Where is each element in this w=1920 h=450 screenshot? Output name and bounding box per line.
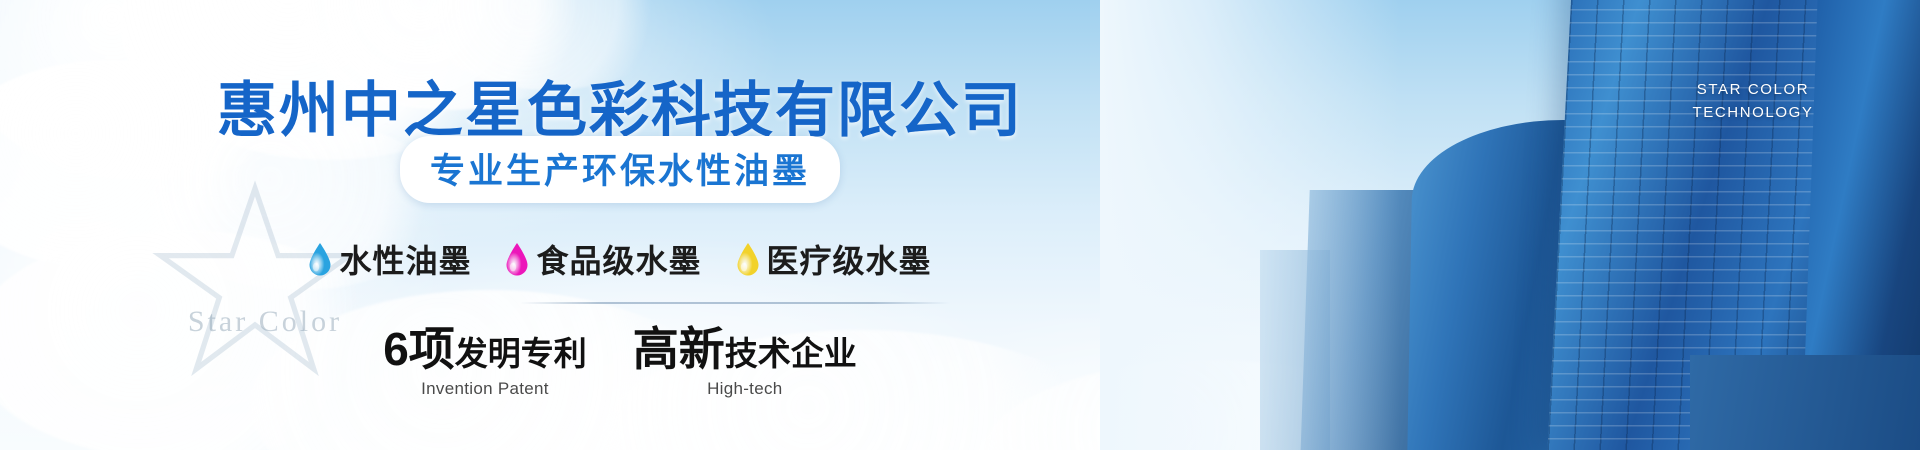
star-color-line-1: STAR COLOR	[1678, 78, 1828, 101]
subtitle-container: 专业生产环保水性油墨	[0, 136, 1240, 203]
credential-english-label: Invention Patent	[383, 379, 587, 399]
credential-rest: 技术企业	[725, 335, 857, 372]
feature-item: 医疗级水墨	[736, 236, 932, 282]
section-divider	[520, 302, 950, 304]
credential-item: 高新技术企业High-tech	[633, 326, 857, 399]
credential-main-text: 6项发明专利	[383, 326, 587, 372]
feature-label: 食品级水墨	[536, 236, 701, 282]
feature-label: 水性油墨	[339, 236, 471, 282]
feature-item: 食品级水墨	[505, 236, 701, 282]
water-drop-icon	[308, 242, 332, 276]
building-low-block	[1690, 355, 1920, 450]
water-drop-icon	[736, 242, 760, 276]
feature-label: 医疗级水墨	[767, 236, 932, 282]
product-feature-list: 水性油墨食品级水墨医疗级水墨	[0, 236, 1240, 282]
star-color-technology-label: STAR COLOR TECHNOLOGY	[1678, 78, 1828, 125]
feature-item: 水性油墨	[308, 236, 471, 282]
credential-english-label: High-tech	[633, 379, 857, 399]
city-skyline-image	[1160, 0, 1920, 450]
star-color-line-2: TECHNOLOGY	[1678, 101, 1828, 124]
credential-list: 6项发明专利Invention Patent高新技术企业High-tech	[0, 326, 1240, 399]
building-far	[1300, 190, 1419, 450]
banner-content: 惠州中之星色彩科技有限公司 专业生产环保水性油墨 水性油墨食品级水墨医疗级水墨 …	[0, 0, 1240, 450]
water-drop-icon	[505, 242, 529, 276]
credential-main-text: 高新技术企业	[633, 326, 857, 372]
credential-rest: 发明专利	[455, 335, 587, 372]
credential-highlight: 6项	[383, 323, 455, 375]
credential-item: 6项发明专利Invention Patent	[383, 326, 587, 399]
subtitle-pill: 专业生产环保水性油墨	[400, 136, 840, 203]
credential-highlight: 高新	[633, 323, 725, 375]
company-banner: Star Color STAR COLOR TECHNOLOGY 惠州中之星色彩…	[0, 0, 1920, 450]
